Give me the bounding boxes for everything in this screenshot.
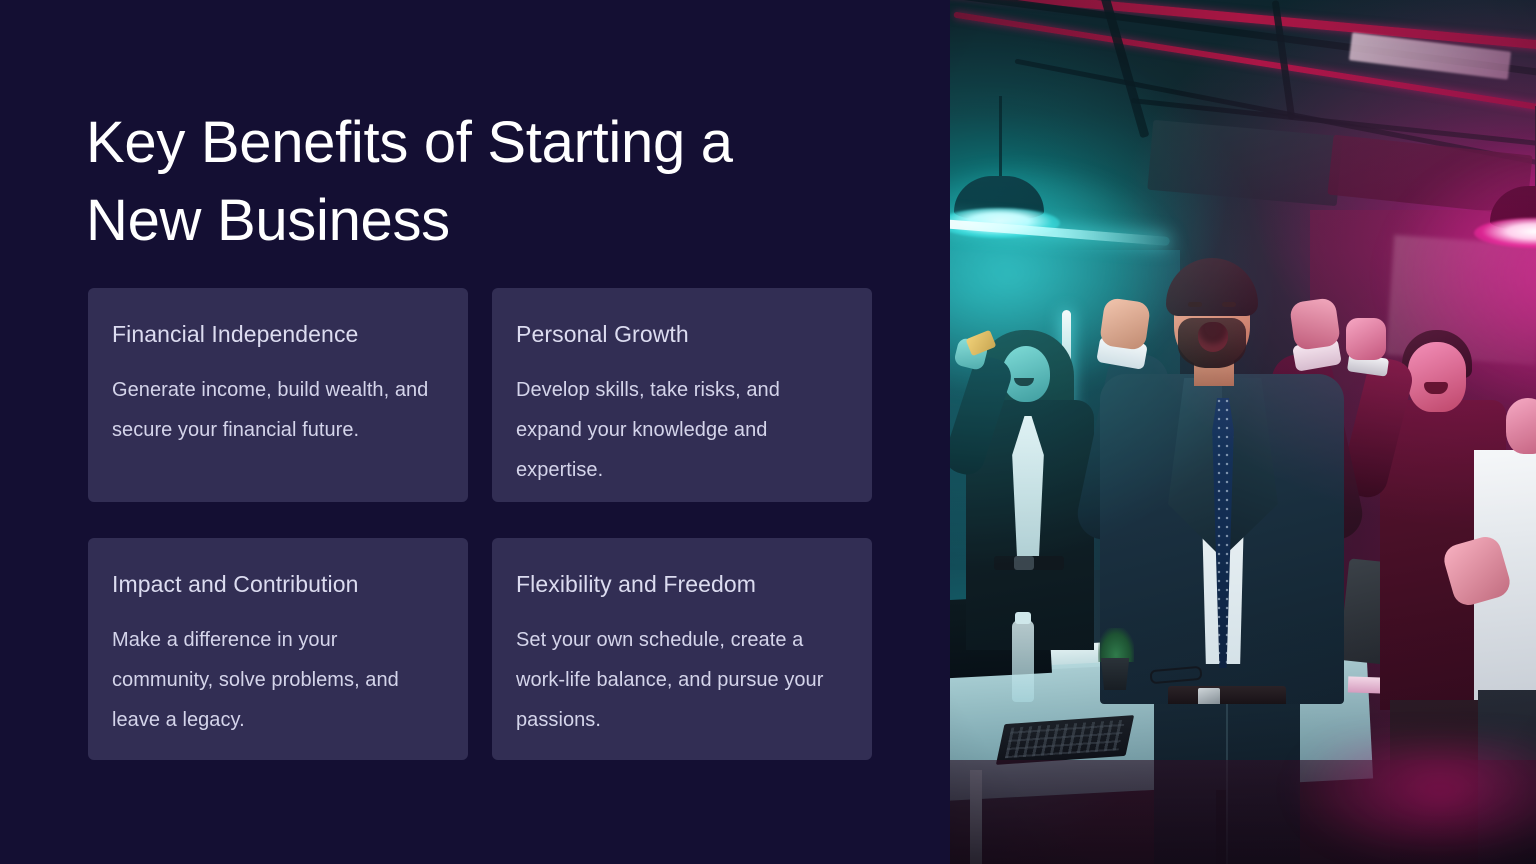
face bbox=[1506, 398, 1536, 454]
potted-plant-leaves bbox=[1098, 628, 1134, 662]
floor-magenta-glow bbox=[1290, 740, 1536, 864]
eye-left bbox=[1188, 302, 1202, 307]
benefit-card-title: Flexibility and Freedom bbox=[516, 570, 848, 598]
benefit-card-title: Financial Independence bbox=[112, 320, 444, 348]
benefit-card-body: Develop skills, take risks, and expand y… bbox=[516, 370, 848, 490]
pendant-lamp-magenta bbox=[1490, 186, 1536, 230]
fist-right bbox=[1289, 297, 1341, 351]
fist bbox=[1346, 318, 1386, 360]
benefits-card-grid: Financial Independence Generate income, … bbox=[88, 288, 872, 760]
benefit-card-body: Generate income, build wealth, and secur… bbox=[112, 370, 444, 450]
benefit-card-flexibility-and-freedom[interactable]: Flexibility and Freedom Set your own sch… bbox=[492, 538, 872, 760]
benefit-card-financial-independence[interactable]: Financial Independence Generate income, … bbox=[88, 288, 468, 502]
fist-left bbox=[1099, 297, 1151, 351]
slide: Key Benefits of Starting a New Business … bbox=[0, 0, 1536, 864]
content-panel: Key Benefits of Starting a New Business … bbox=[0, 0, 950, 864]
water-bottle bbox=[1012, 620, 1034, 702]
page-title: Key Benefits of Starting a New Business bbox=[86, 104, 846, 260]
celebration-photo bbox=[950, 0, 1536, 864]
face bbox=[1408, 342, 1466, 412]
belt-buckle bbox=[1014, 556, 1034, 570]
benefit-card-body: Make a difference in your community, sol… bbox=[112, 620, 444, 740]
benefit-card-title: Impact and Contribution bbox=[112, 570, 444, 598]
open-mouth bbox=[1198, 322, 1228, 352]
eye-right bbox=[1222, 302, 1236, 307]
benefit-card-personal-growth[interactable]: Personal Growth Develop skills, take ris… bbox=[492, 288, 872, 502]
mouth bbox=[1424, 382, 1448, 394]
benefit-card-impact-and-contribution[interactable]: Impact and Contribution Make a differenc… bbox=[88, 538, 468, 760]
benefit-card-body: Set your own schedule, create a work-lif… bbox=[516, 620, 848, 740]
pendant-lamp-teal bbox=[954, 176, 1044, 220]
bottle-cap bbox=[1015, 612, 1031, 624]
lamp-cord bbox=[999, 96, 1002, 176]
benefit-card-title: Personal Growth bbox=[516, 320, 848, 348]
